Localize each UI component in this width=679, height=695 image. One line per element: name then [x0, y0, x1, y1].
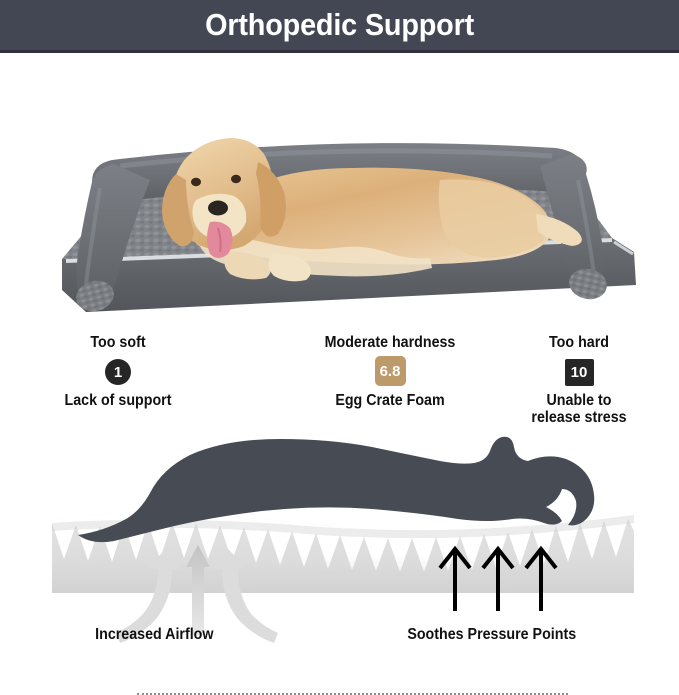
scale-bottom-label-moderate: Egg Crate Foam: [303, 392, 478, 409]
scale-marker-too-hard: Too hard 10 Unable to release stress: [489, 334, 669, 427]
scale-marker-moderate: Moderate hardness 6.8 Egg Crate Foam: [295, 334, 485, 409]
label-soothes-pressure-points: Soothes Pressure Points: [407, 626, 576, 644]
header-banner: Orthopedic Support: [0, 0, 679, 53]
dog-on-bed-illustration: [0, 56, 679, 318]
scale-bottom-label-too-hard-line1: Unable to: [496, 392, 662, 409]
label-increased-airflow: Increased Airflow: [95, 626, 213, 644]
dog-eye-right: [231, 175, 241, 183]
page-title: Orthopedic Support: [205, 7, 474, 43]
scale-top-label-too-soft: Too soft: [40, 334, 196, 352]
scale-badge-10: 10: [565, 359, 594, 386]
scale-marker-too-soft: Too soft 1 Lack of support: [33, 334, 203, 409]
dog-eye-left: [191, 178, 201, 186]
scale-top-label-too-hard: Too hard: [496, 334, 662, 352]
scale-badge-6-8: 6.8: [375, 356, 406, 386]
scale-top-label-moderate: Moderate hardness: [303, 334, 478, 352]
foam-diagram-svg: [0, 427, 679, 654]
scale-bottom-label-too-soft: Lack of support: [40, 392, 196, 409]
scale-badge-1: 1: [105, 359, 131, 385]
scale-bottom-label-too-hard-line2: release stress: [496, 409, 662, 426]
product-photo: [0, 56, 679, 318]
dog-nose: [208, 201, 228, 216]
foam-cross-section-diagram: Increased Airflow Soothes Pressure Point…: [0, 427, 679, 654]
hardness-scale: Too soft 1 Lack of support Moderate hard…: [0, 322, 679, 427]
